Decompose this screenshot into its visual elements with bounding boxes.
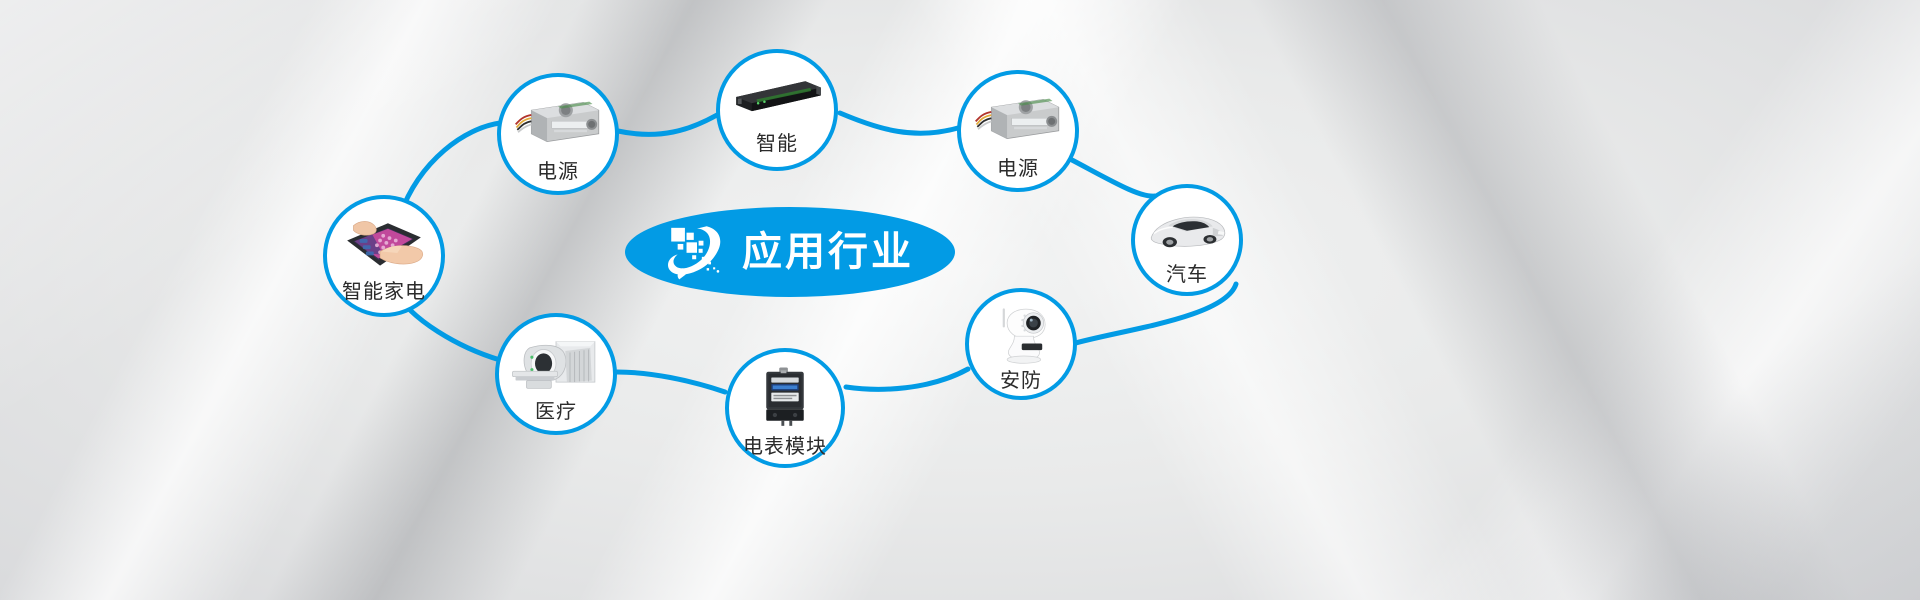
atx-power-supply-icon (970, 90, 1066, 148)
link-power-right-to-automotive (1072, 160, 1155, 196)
node-label: 电源 (537, 161, 579, 181)
node-label: 智能 (756, 133, 798, 153)
node-medical[interactable]: 医疗 (495, 313, 617, 435)
node-power-supply-left[interactable]: 电源 (497, 73, 619, 195)
ip-camera-icon (988, 304, 1054, 364)
link-intelligent-to-power-right (840, 113, 958, 133)
node-label: 安防 (1000, 370, 1042, 390)
node-label: 电源 (997, 158, 1039, 178)
link-power-left-to-intelligent (618, 115, 717, 134)
node-label: 智能家电 (342, 281, 426, 301)
link-automotive-to-security (1072, 284, 1236, 344)
node-label: 医疗 (535, 401, 577, 421)
atx-power-supply-icon (510, 93, 606, 151)
node-security[interactable]: 安防 (965, 288, 1077, 400)
node-label: 汽车 (1166, 264, 1208, 284)
sports-car-icon (1144, 206, 1230, 254)
badge-title: 应用行业 (742, 232, 914, 272)
node-automotive[interactable]: 汽车 (1131, 184, 1243, 296)
electricity-meter-icon (757, 366, 813, 428)
node-meter-module[interactable]: 电表模块 (725, 348, 845, 468)
node-connector-ring: .lnk{fill:none;stroke:#029BE5;stroke-wid… (0, 0, 1920, 600)
node-smart-home-appliance[interactable]: 智能家电 (323, 195, 445, 317)
node-label: 电表模块 (743, 436, 827, 456)
node-intelligent[interactable]: 智能 (716, 49, 838, 171)
center-badge[interactable]: 应用行业 (625, 207, 955, 297)
node-power-supply-right[interactable]: 电源 (957, 70, 1079, 192)
application-industries-banner: .lnk{fill:none;stroke:#029BE5;stroke-wid… (0, 0, 1920, 600)
link-meter-to-medical (617, 372, 725, 392)
tablet-touch-hand-icon (336, 217, 432, 275)
ct-mri-scanner-icon (507, 337, 605, 393)
rackmount-server-icon (728, 75, 826, 119)
link-smart-home-to-power-left (400, 123, 500, 215)
pixel-orbit-swoosh-icon (666, 223, 728, 281)
link-security-to-meter (846, 369, 968, 389)
